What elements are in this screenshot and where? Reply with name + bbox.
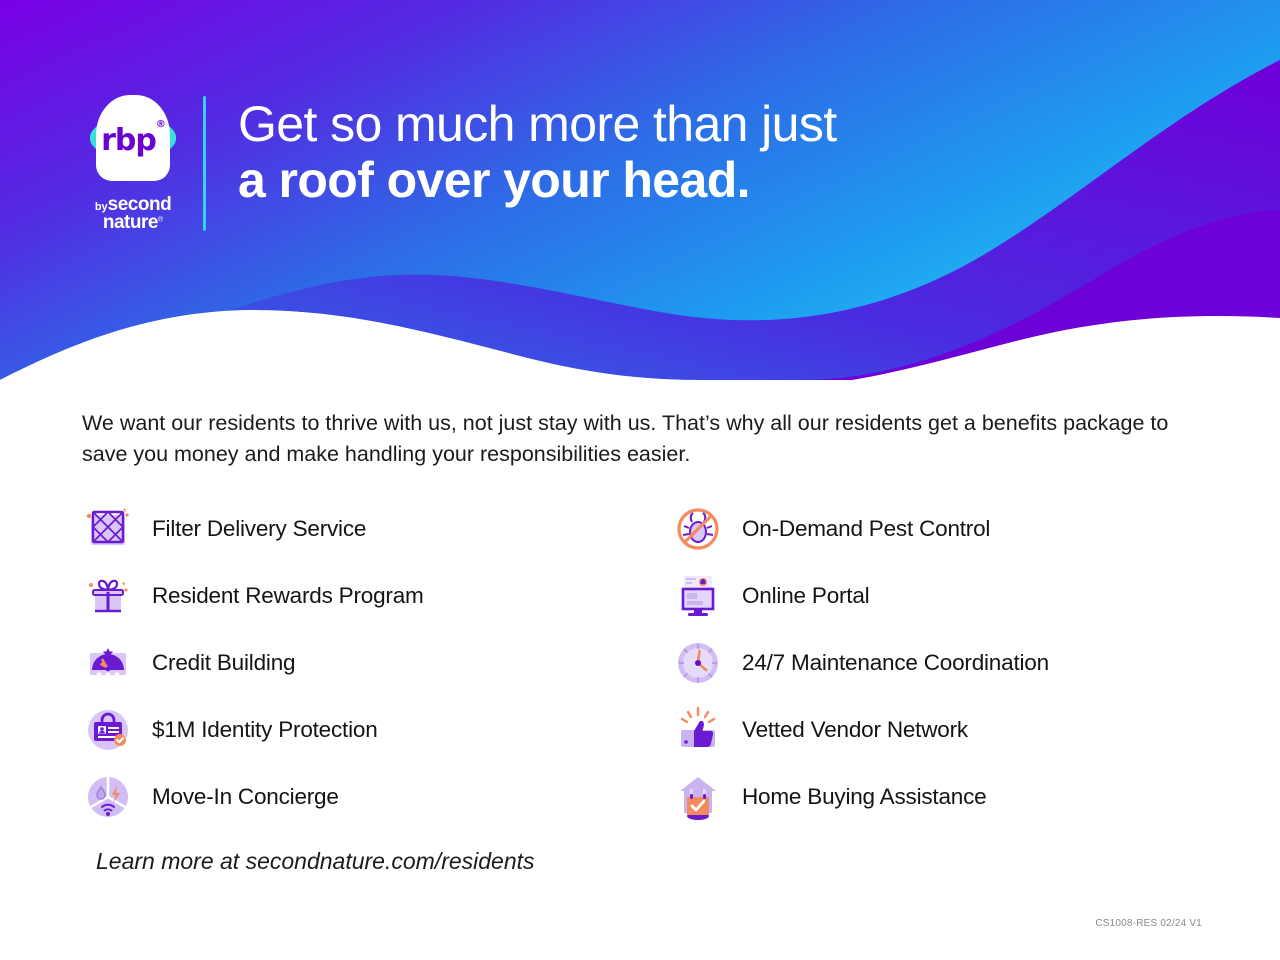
hero-banner: rbp® bysecond nature® Get so much more t… — [0, 0, 1280, 380]
benefit-item-credit-building: Credit Building — [82, 629, 672, 696]
rbp-logo: rbp® bysecond nature® — [78, 90, 188, 231]
headline-line-2: a roof over your head. — [238, 152, 837, 208]
benefit-item-online-portal: Online Portal — [672, 562, 1192, 629]
rbp-logo-mark: rbp® — [85, 90, 181, 186]
logo-registered-mark: ® — [158, 216, 163, 223]
benefit-label: Vetted Vendor Network — [742, 717, 968, 743]
benefit-item-move-in-concierge: Move-In Concierge — [82, 763, 672, 830]
headline-line-1: Get so much more than just — [238, 96, 837, 152]
gift-box-icon — [82, 570, 134, 622]
logo-byline: bysecond nature® — [95, 196, 171, 231]
benefit-item-1m-identity-protection: $1M Identity Protection — [82, 696, 672, 763]
monitor-icon — [672, 570, 724, 622]
benefit-item-vetted-vendor-network: Vetted Vendor Network — [672, 696, 1192, 763]
no-pest-icon — [672, 503, 724, 555]
benefit-label: Credit Building — [152, 650, 295, 676]
benefit-label: 24/7 Maintenance Coordination — [742, 650, 1049, 676]
benefit-item-resident-rewards-program: Resident Rewards Program — [82, 562, 672, 629]
house-checklist-icon — [672, 771, 724, 823]
benefit-label: On-Demand Pest Control — [742, 516, 990, 542]
thumbs-up-icon — [672, 704, 724, 756]
air-filter-icon — [82, 503, 134, 555]
flyer-page: rbp® bysecond nature® Get so much more t… — [0, 0, 1280, 960]
learn-more-text: Learn more at secondnature.com/residents — [96, 848, 535, 875]
logo-badge-shape: rbp® — [96, 95, 170, 181]
hero-divider — [203, 96, 206, 231]
benefit-label: Resident Rewards Program — [152, 583, 424, 609]
credit-gauge-icon — [82, 637, 134, 689]
benefit-label: Filter Delivery Service — [152, 516, 366, 542]
clock-icon — [672, 637, 724, 689]
benefit-item-on-demand-pest-control: On-Demand Pest Control — [672, 495, 1192, 562]
intro-paragraph: We want our residents to thrive with us,… — [82, 408, 1172, 469]
benefit-label: Home Buying Assistance — [742, 784, 986, 810]
logo-wordmark: rbp® — [101, 123, 165, 158]
document-code: CS1008-RES 02/24 V1 — [1095, 918, 1202, 929]
benefit-label: Online Portal — [742, 583, 869, 609]
benefit-item-filter-delivery-service: Filter Delivery Service — [82, 495, 672, 562]
hero-headline: Get so much more than just a roof over y… — [238, 96, 837, 208]
utilities-circle-icon — [82, 771, 134, 823]
benefit-item-home-buying-assistance: Home Buying Assistance — [672, 763, 1192, 830]
benefit-label: Move-In Concierge — [152, 784, 339, 810]
benefits-grid: Filter Delivery Service On-Demand Pest C… — [82, 495, 1192, 830]
id-badge-shield-icon — [82, 704, 134, 756]
logo-brand-line2: nature — [103, 212, 158, 233]
benefit-label: $1M Identity Protection — [152, 717, 378, 743]
benefit-item-24-7-maintenance-coordination: 24/7 Maintenance Coordination — [672, 629, 1192, 696]
